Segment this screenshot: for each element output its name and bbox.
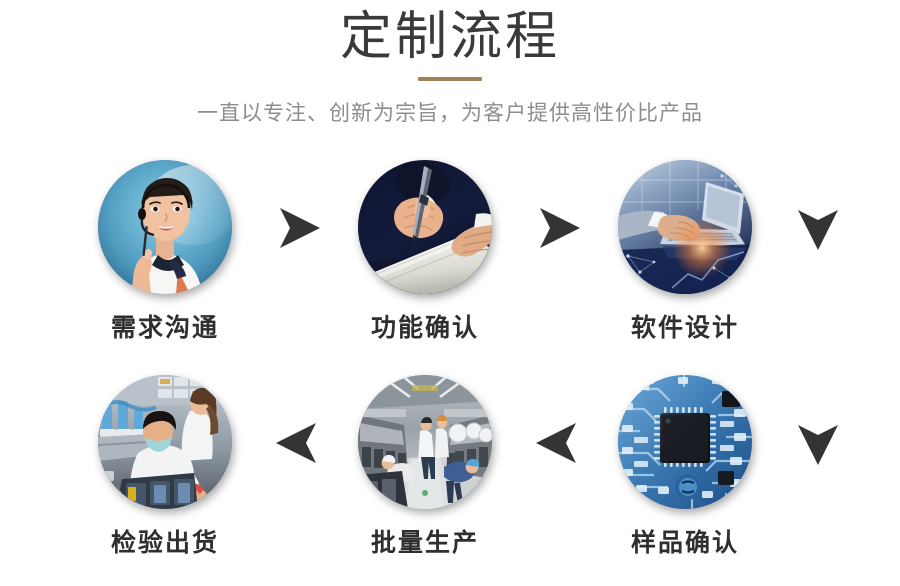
process-step-3[interactable]: 软件设计 [595, 160, 775, 341]
customer-service-agent-headset-photo [98, 160, 232, 294]
process-step-1[interactable]: 需求沟通 [75, 160, 255, 341]
process-step-2[interactable]: 功能确认 [335, 160, 515, 341]
process-step-label: 需求沟通 [75, 316, 255, 341]
arrow-right-icon [266, 196, 330, 260]
process-steps: 需求沟通 [0, 160, 900, 580]
process-step-6[interactable]: 检验出货 [75, 375, 255, 556]
hand-signing-document-photo [358, 160, 492, 294]
customization-process-page: 定制流程 一直以专注、创新为宗旨，为客户提供高性价比产品 [0, 0, 900, 586]
process-step-label: 软件设计 [595, 316, 775, 341]
page-title: 定制流程 [0, 0, 900, 68]
hands-on-laptop-tech-overlay-photo [618, 160, 752, 294]
arrow-down-icon [786, 411, 850, 475]
process-step-label: 功能确认 [335, 316, 515, 341]
workers-inspecting-assembly-photo [98, 375, 232, 509]
process-step-label: 检验出货 [75, 531, 255, 556]
process-step-5[interactable]: 批量生产 [335, 375, 515, 556]
factory-production-line-photo [358, 375, 492, 509]
arrow-down-icon [786, 196, 850, 260]
pcb-circuit-board-chip-photo [618, 375, 752, 509]
arrow-right-icon [526, 196, 590, 260]
process-step-4[interactable]: 样品确认 [595, 375, 775, 556]
arrow-left-icon [266, 411, 330, 475]
process-step-label: 批量生产 [335, 531, 515, 556]
arrow-left-icon [526, 411, 590, 475]
page-subtitle: 一直以专注、创新为宗旨，为客户提供高性价比产品 [0, 97, 900, 127]
process-step-label: 样品确认 [595, 531, 775, 556]
page-header: 定制流程 一直以专注、创新为宗旨，为客户提供高性价比产品 [0, 0, 900, 127]
title-divider [418, 77, 482, 81]
